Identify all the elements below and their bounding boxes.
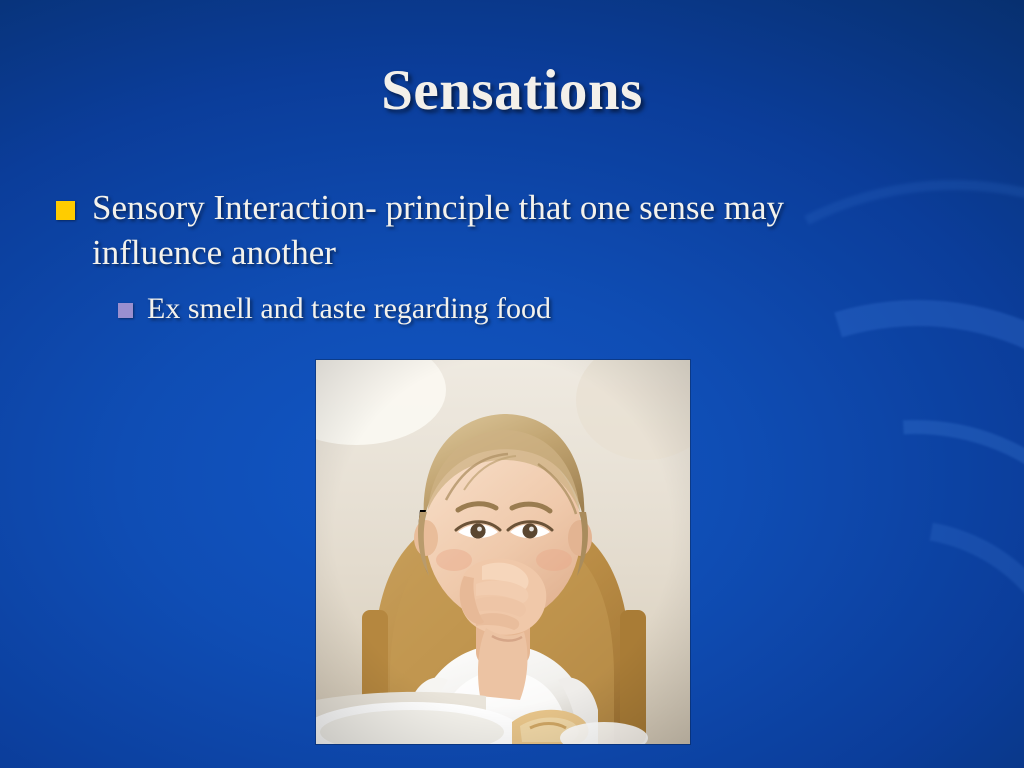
presentation-slide: Sensations Sensory Interaction- principl…: [0, 0, 1024, 768]
list-item: Ex smell and taste regarding food: [118, 290, 956, 328]
girl-pinching-nose-photo: [316, 360, 690, 744]
bullet-level2-text: Ex smell and taste regarding food: [147, 290, 551, 328]
list-item: Sensory Interaction- principle that one …: [56, 186, 956, 276]
bullet-level1-text: Sensory Interaction- principle that one …: [92, 186, 912, 276]
decorative-swirl-icon: [646, 448, 1024, 768]
square-bullet-purple-icon: [118, 303, 133, 318]
slide-title: Sensations: [0, 58, 1024, 123]
slide-body: Sensory Interaction- principle that one …: [56, 186, 956, 327]
square-bullet-yellow-icon: [56, 201, 75, 220]
